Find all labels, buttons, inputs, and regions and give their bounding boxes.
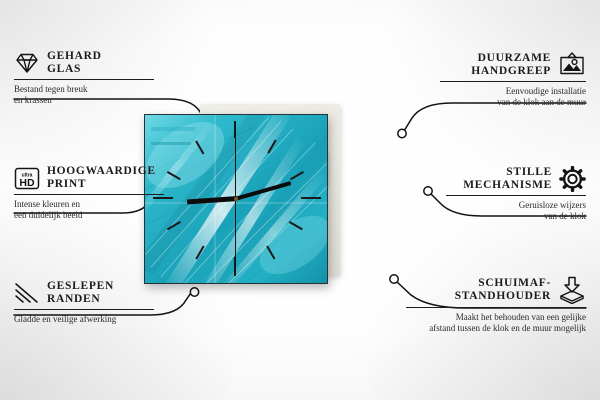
bevelled-edges-icon	[14, 281, 40, 305]
feature-title: GEHARD GLAS	[47, 50, 102, 76]
feature-description: Gladde en veilige afwerking	[14, 314, 154, 325]
feature-description: Eenvoudige installatie van de klok aan d…	[440, 86, 586, 108]
feature-gehard-glas: GEHARD GLAS Bestand tegen breuk en krass…	[14, 50, 154, 106]
glass-clock-face	[144, 114, 328, 284]
feature-stille-mechanisme: STILLE MECHANISME Geruisloze wijzers van…	[446, 166, 586, 222]
divider	[14, 79, 154, 80]
ultra-hd-large-label: HD	[19, 177, 35, 189]
feature-title: STILLE MECHANISME	[463, 166, 552, 192]
feature-duurzame-handgreep: DUURZAME HANDGREEP Eenvoudige installati…	[440, 52, 586, 108]
gear-icon	[559, 166, 586, 192]
divider	[14, 194, 164, 195]
feature-schuimafstandhouder: SCHUIMAF- STANDHOUDER Maakt het behouden…	[406, 276, 586, 334]
clock-center-hub	[234, 197, 238, 201]
divider	[440, 81, 586, 82]
feature-hoogwaardige-print: ultra HD HOOGWAARDIGE PRINT Intense kleu…	[14, 165, 164, 221]
connector-dot-duurzame-handgreep	[398, 129, 406, 137]
diamond-icon	[14, 51, 40, 75]
spacer-press-icon	[558, 276, 586, 304]
hour-tick-3	[301, 197, 321, 199]
feature-geslepen-randen: GESLEPEN RANDEN Gladde en veilige afwerk…	[14, 280, 154, 325]
ultra-hd-icon: ultra HD	[14, 166, 40, 191]
divider	[14, 309, 154, 310]
connector-dot-geslepen-randen	[190, 288, 198, 296]
connector-dot-schuimafstandhouder	[390, 275, 398, 283]
feature-description: Maakt het behouden van een gelijke afsta…	[406, 312, 586, 334]
picture-frame-hanger-icon	[558, 52, 586, 78]
feature-description: Intense kleuren en een duidelijk beeld	[14, 199, 164, 221]
feature-title: HOOGWAARDIGE PRINT	[47, 165, 156, 191]
feature-description: Geruisloze wijzers van de klok	[446, 200, 586, 222]
product-photo	[144, 108, 339, 283]
feature-title: SCHUIMAF- STANDHOUDER	[455, 277, 551, 303]
connector-dot-stille-mechanisme	[424, 187, 432, 195]
divider	[446, 195, 586, 196]
feature-title: GESLEPEN RANDEN	[47, 280, 114, 306]
feature-title: DUURZAME HANDGREEP	[471, 52, 551, 78]
divider	[406, 307, 586, 308]
infographic-canvas: GEHARD GLAS Bestand tegen breuk en krass…	[0, 0, 600, 400]
feature-description: Bestand tegen breuk en krassen	[14, 84, 154, 106]
